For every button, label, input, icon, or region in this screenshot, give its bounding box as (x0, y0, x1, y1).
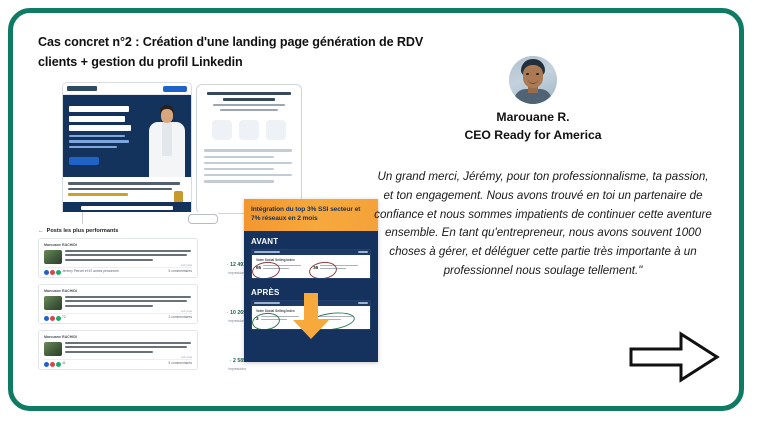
testimonial-quote: Un grand merci, Jérémy, pour ton profess… (372, 168, 714, 281)
metric: 65 (256, 265, 303, 271)
before-metrics: 65 36 (256, 265, 366, 271)
hero-headline (69, 106, 133, 135)
right-arrow-icon (628, 330, 720, 384)
before-panel: Votre Social Selling Index 65 36 (251, 249, 371, 279)
down-arrow-icon (291, 293, 331, 339)
ssi-card-header: Intégration du top 3% SSI secteur et 7% … (244, 199, 378, 231)
post-author: Marouane RACHIDI (44, 289, 192, 293)
hero-photo (145, 103, 189, 177)
post-comments: 5 commentaires (169, 361, 192, 365)
avatar (509, 56, 557, 104)
list-item[interactable]: Marouane RACHIDI voir plus Jérémy Pierce… (38, 238, 198, 278)
impressions-counter: ·12 491 impressions (202, 253, 246, 275)
post-likes: 72 (62, 315, 66, 319)
secondary-icon-row (197, 120, 301, 140)
header-cta-button[interactable] (163, 86, 187, 92)
post-list: Marouane RACHIDI voir plus Jérémy Pierce… (38, 238, 218, 376)
testimonial-author-role: CEO Ready for America (418, 128, 648, 142)
highlight-ring-icon (308, 260, 338, 279)
feature-icon (239, 120, 259, 140)
post-footer: Jérémy Piercet et 67 autres personnes 5 … (44, 267, 192, 274)
panel-divider (82, 212, 83, 224)
reaction-icons (44, 316, 61, 321)
post-likes: Jérémy Piercet et 67 autres personnes (62, 269, 119, 273)
hero-cta-button[interactable] (69, 157, 99, 165)
secondary-text-rows (197, 140, 301, 195)
post-thumbnail (44, 296, 62, 310)
post-thumbnail (44, 342, 62, 356)
panel-action-button[interactable] (188, 214, 218, 224)
before-label: AVANT (251, 237, 371, 246)
bullet-icon: · (229, 358, 231, 364)
metric: 36 (313, 265, 360, 271)
testimonial-author-name: Marouane R. (418, 110, 648, 124)
impressions-counter: ·10 269 impressions (202, 301, 246, 323)
list-item[interactable]: Marouane RACHIDI voir plus 41 5 commenta… (38, 330, 198, 370)
back-arrow-icon[interactable]: ← (38, 228, 44, 234)
highlight-ring-icon (251, 311, 281, 330)
feature-icon (212, 120, 232, 140)
post-author: Marouane RACHIDI (44, 243, 192, 247)
ssi-result-card: Intégration du top 3% SSI secteur et 7% … (244, 199, 378, 362)
landing-page-mockup-secondary (196, 84, 302, 214)
linkedin-posts-panel: ←Posts les plus performants Marouane RAC… (38, 212, 218, 380)
posts-heading-label: Posts les plus performants (47, 228, 119, 234)
impressions-label: impressions (202, 271, 246, 275)
post-author: Marouane RACHIDI (44, 335, 192, 339)
impressions-label: impressions (202, 319, 246, 323)
hero-section (63, 95, 191, 177)
impressions-label: impressions (202, 367, 246, 371)
mockup-topbar (63, 83, 191, 95)
post-footer: 72 2 commentaires (44, 313, 192, 320)
page-title-line-2: clients + gestion du profil Linkedin (38, 53, 458, 73)
post-footer: 41 5 commentaires (44, 359, 192, 366)
post-text (65, 296, 193, 309)
reaction-icons (44, 362, 61, 367)
post-likes: 41 (62, 361, 66, 365)
ssi-card-body: AVANT Votre Social Selling Index 65 36 (244, 231, 378, 336)
posts-heading: ←Posts les plus performants (38, 228, 118, 234)
panel-caption: Votre Social Selling Index (256, 258, 366, 262)
hero-bullets (69, 135, 131, 151)
secondary-heading (197, 85, 301, 111)
hero-subtext (63, 177, 191, 196)
page-title-line-1: Cas concret n°2 : Création d'une landing… (38, 33, 458, 53)
post-thumbnail (44, 250, 62, 264)
highlight-ring-icon (251, 260, 281, 279)
reaction-icons (44, 270, 61, 275)
feature-icon (266, 120, 286, 140)
brand-logo (67, 86, 97, 91)
page-title: Cas concret n°2 : Création d'une landing… (38, 33, 458, 72)
bullet-icon: · (226, 262, 228, 268)
ssi-header-text: Intégration du top 3% SSI secteur et 7% … (251, 205, 371, 224)
post-comments: 2 commentaires (169, 315, 192, 319)
list-item[interactable]: Marouane RACHIDI voir plus 72 2 commenta… (38, 284, 198, 324)
post-comments: 5 commentaires (169, 269, 192, 273)
impressions-counter: ·2 585 impressions (202, 349, 246, 371)
bullet-icon: · (226, 310, 228, 316)
panel-content: Votre Social Selling Index 65 36 (252, 255, 370, 278)
post-text (65, 342, 193, 355)
post-text (65, 250, 193, 263)
